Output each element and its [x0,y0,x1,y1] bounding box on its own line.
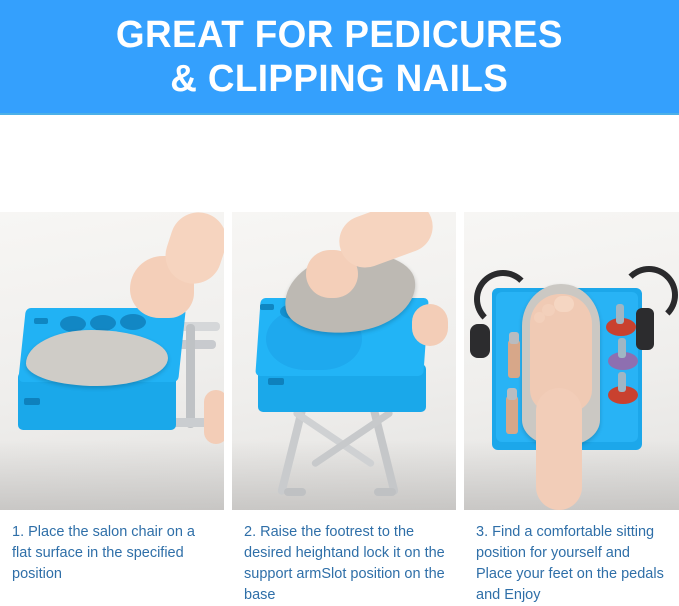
product-photo-step-2 [232,212,456,510]
product-photo-step-1 [0,212,224,510]
floor-shadow [232,440,456,510]
cable-left [474,270,532,328]
nail-clipper-2 [506,396,518,434]
foot-pad [26,330,168,386]
instruction-caption-2: 2. Raise the footrest to the desired hei… [232,518,456,605]
header-banner: GREAT FOR PEDICURES & CLIPPING NAILS [0,0,679,115]
toe-3 [534,312,545,323]
hand-lower [204,390,224,444]
stand-foot-right [374,488,396,496]
tool-recess-3 [120,314,146,330]
nail-clipper-1-head [509,332,519,344]
side-latch-top [34,318,48,324]
product-photo-row [0,212,679,510]
tool-recess-2 [90,315,116,331]
cable-left-grip [470,324,490,358]
hand-right [412,304,448,346]
header-title-line-2: & CLIPPING NAILS [171,57,509,101]
side-latch-top [260,304,274,310]
folded-metal-leg-side-b [186,324,195,428]
side-latch-bottom [24,398,40,405]
header-title-line-1: GREAT FOR PEDICURES [116,13,563,57]
instruction-caption-1: 1. Place the salon chair on a flat surfa… [0,518,224,605]
floor-shadow [0,440,224,510]
nail-clipper-2-head [507,388,517,400]
tool-holder-stem-3 [618,372,626,392]
toe-1 [554,296,574,312]
instruction-caption-row: 1. Place the salon chair on a flat surfa… [0,518,679,605]
stand-foot-left [284,488,306,496]
tool-holder-stem-2 [618,338,626,358]
product-photo-step-3 [464,212,679,510]
instruction-caption-3: 3. Find a comfortable sitting position f… [464,518,679,605]
nail-clipper-1 [508,340,520,378]
ankle [536,388,582,510]
side-latch-bottom [268,378,284,385]
cable-right-grip [636,308,654,350]
